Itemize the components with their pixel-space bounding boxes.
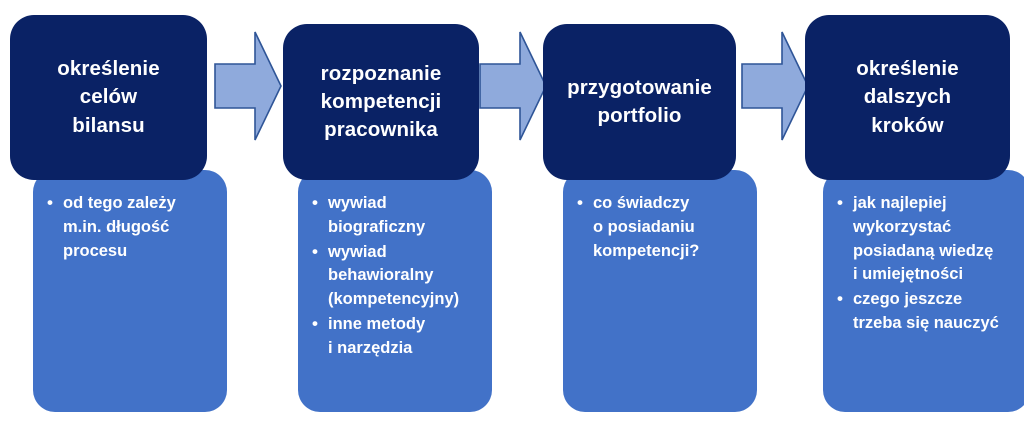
list-item: jak najlepiej wykorzystać posiadaną wied… xyxy=(837,192,1016,287)
arrow-2-connector xyxy=(478,30,548,142)
stage-4-header-box[interactable]: określenie dalszych kroków xyxy=(805,15,1010,180)
arrow-3-connector xyxy=(740,30,810,142)
stage-3-header-box[interactable]: przygotowanie portfolio xyxy=(543,24,736,180)
right-arrow-icon xyxy=(740,30,810,142)
list-item: od tego zależy m.in. długość procesu xyxy=(47,192,213,263)
list-item: czego jeszcze trzeba się nauczyć xyxy=(837,288,1016,336)
stage-1-bullet-list: od tego zależy m.in. długość procesu xyxy=(47,192,213,263)
right-arrow-icon xyxy=(213,30,283,142)
stage-2-body-box: wywiad biograficzny wywiad behawioralny … xyxy=(298,170,492,412)
stage-1-title: określenie celów bilansu xyxy=(57,55,159,140)
list-item: wywiad behawioralny (kompetencyjny) xyxy=(312,241,478,312)
list-item: co świadczy o posiadaniu kompetencji? xyxy=(577,192,743,263)
stage-4-bullet-list: jak najlepiej wykorzystać posiadaną wied… xyxy=(837,192,1016,336)
arrow-1-connector xyxy=(213,30,283,142)
stage-3-body-box: co świadczy o posiadaniu kompetencji? xyxy=(563,170,757,412)
stage-2-header-box[interactable]: rozpoznanie kompetencji pracownika xyxy=(283,24,479,180)
process-flow-diagram: od tego zależy m.in. długość procesu okr… xyxy=(0,0,1024,430)
right-arrow-icon xyxy=(478,30,548,142)
list-item: wywiad biograficzny xyxy=(312,192,478,240)
stage-1-header-box[interactable]: określenie celów bilansu xyxy=(10,15,207,180)
list-item: inne metody i narzędzia xyxy=(312,313,478,361)
stage-4-title: określenie dalszych kroków xyxy=(856,55,958,140)
stage-2-title: rozpoznanie kompetencji pracownika xyxy=(321,60,442,145)
stage-2-bullet-list: wywiad biograficzny wywiad behawioralny … xyxy=(312,192,478,360)
stage-1-body-box: od tego zależy m.in. długość procesu xyxy=(33,170,227,412)
stage-3-bullet-list: co świadczy o posiadaniu kompetencji? xyxy=(577,192,743,263)
stage-3-title: przygotowanie portfolio xyxy=(567,74,712,131)
stage-4-body-box: jak najlepiej wykorzystać posiadaną wied… xyxy=(823,170,1024,412)
